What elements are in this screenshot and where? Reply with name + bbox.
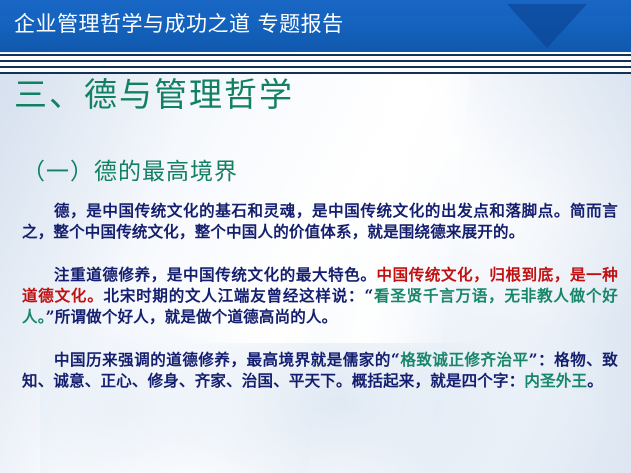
sub-heading: （一）德的最高境界 bbox=[22, 157, 238, 187]
paragraph-3-run-0: 中国历来强调的道德修养，最高境界就是儒家的“ bbox=[54, 350, 400, 369]
triangle-down-icon bbox=[507, 4, 587, 48]
paragraph-1: 德，是中国传统文化的基石和灵魂，是中国传统文化的出发点和落脚点。简而言之，整个中… bbox=[22, 200, 618, 242]
paragraph-2: 注重道德修养，是中国传统文化的最大特色。中国传统文化，归根到底，是一种道德文化。… bbox=[22, 264, 618, 327]
paragraph-1-run-0: 德，是中国传统文化的基石和灵魂，是中国传统文化的出发点和落脚点。简而言之，整个中… bbox=[22, 201, 618, 241]
divider-rule-1 bbox=[0, 54, 631, 56]
paragraph-3-run-1: 格致诚正修齐治平 bbox=[400, 350, 529, 369]
slide-header-bar: 企业管理哲学与成功之道 专题报告 bbox=[0, 0, 631, 52]
paragraph-2-run-2: 北宋时期的文人江端友曾经这样说：“ bbox=[104, 286, 374, 305]
paragraph-2-run-4: ”所谓做个好人，就是做个道德高尚的人。 bbox=[46, 307, 338, 326]
presentation-slide: 企业管理哲学与成功之道 专题报告 三、德与管理哲学 （一）德的最高境界 德，是中… bbox=[0, 0, 631, 473]
paragraph-3-run-4: 。 bbox=[587, 371, 603, 390]
divider-rule-2 bbox=[0, 60, 631, 62]
presentation-title: 企业管理哲学与成功之道 专题报告 bbox=[14, 7, 344, 41]
header-divider-rules bbox=[0, 53, 631, 74]
divider-rule-3 bbox=[0, 66, 631, 68]
paragraph-3: 中国历来强调的道德修养，最高境界就是儒家的“格致诚正修齐治平”：格物、致知、诚意… bbox=[22, 349, 618, 391]
slide-body-content: 德，是中国传统文化的基石和灵魂，是中国传统文化的出发点和落脚点。简而言之，整个中… bbox=[22, 200, 618, 391]
paragraph-2-run-0: 注重道德修养，是中国传统文化的最大特色。 bbox=[54, 265, 377, 284]
paragraph-3-run-3: 内圣外王 bbox=[524, 371, 587, 390]
section-heading: 三、德与管理哲学 bbox=[14, 74, 294, 116]
